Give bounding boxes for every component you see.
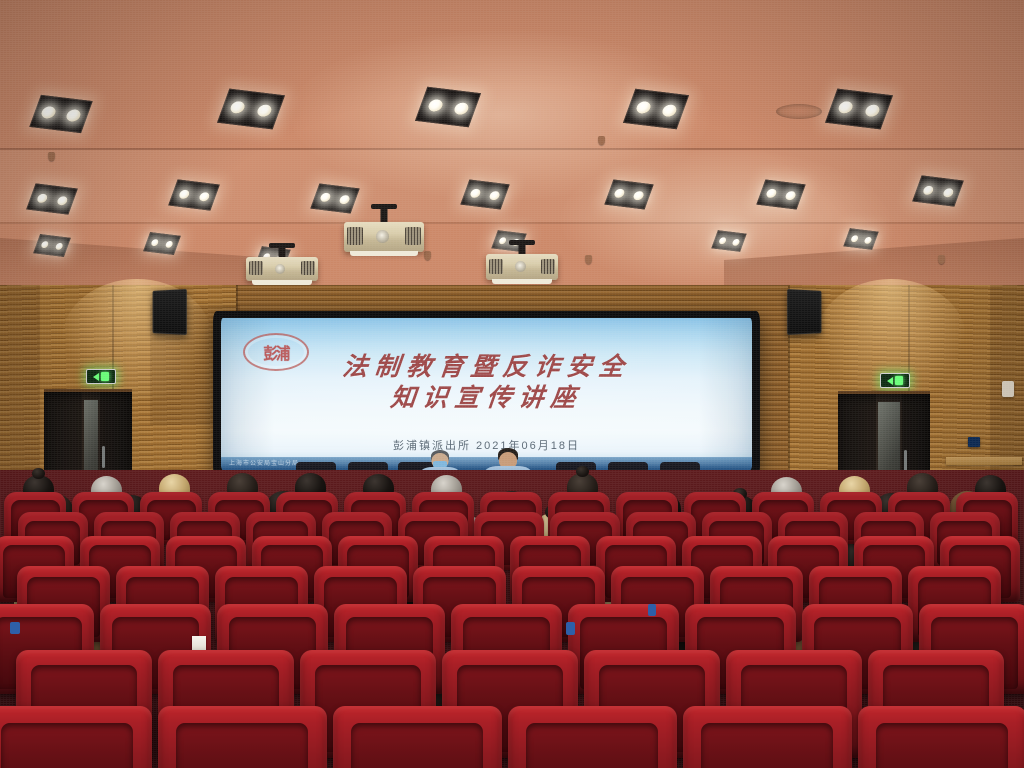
sprinkler-head-2 <box>598 136 605 145</box>
projector-1 <box>246 243 318 281</box>
auditorium-seat[interactable] <box>333 706 502 768</box>
exit-sign-left-icon <box>86 369 116 384</box>
projector-3 <box>486 240 558 280</box>
auditorium-photo: 彭浦 法制教育暨反诈安全 知识宣传讲座 彭浦镇派出所 2021年06月18日 上… <box>0 0 1024 768</box>
attendee-phone <box>648 604 656 616</box>
ceiling-light-3 <box>415 87 481 128</box>
auditorium-seat[interactable] <box>858 706 1024 768</box>
exit-sign-right-icon <box>880 373 910 388</box>
ceiling-light-17 <box>711 230 746 252</box>
auditorium-seat[interactable] <box>0 706 152 768</box>
slide-title: 法制教育暨反诈安全 知识宣传讲座 <box>221 352 752 415</box>
wall-thermostat[interactable] <box>1002 381 1014 397</box>
auditorium-seat[interactable] <box>508 706 677 768</box>
ceiling-light-6 <box>26 183 78 214</box>
ceiling-light-7 <box>168 179 220 210</box>
ceiling-light-9 <box>460 180 509 210</box>
ceiling <box>0 0 1024 300</box>
sprinkler-head-4 <box>585 255 592 264</box>
audience-seating <box>0 470 1024 768</box>
auditorium-seat[interactable] <box>158 706 327 768</box>
ceiling-light-12 <box>912 175 964 206</box>
ceiling-light-1 <box>29 95 92 133</box>
sprinkler-head-1 <box>48 152 55 161</box>
auditorium-seat[interactable] <box>683 706 852 768</box>
slide-title-line-2: 知识宣传讲座 <box>221 383 752 414</box>
ceiling-light-10 <box>604 180 653 210</box>
wall-switch-panel[interactable] <box>968 437 980 447</box>
ceiling-light-11 <box>756 180 805 210</box>
slide-title-line-1: 法制教育暨反诈安全 <box>221 352 752 383</box>
attendee-hair-bun <box>576 466 589 477</box>
attendee-hair-bun <box>32 468 45 479</box>
ceiling-light-4 <box>623 89 689 130</box>
sprinkler-head-5 <box>938 255 945 264</box>
ceiling-vent <box>776 104 822 119</box>
ceiling-light-18 <box>843 228 878 250</box>
projector-2 <box>344 204 424 252</box>
wall-speaker-right <box>787 289 821 335</box>
ceiling-light-2 <box>217 89 285 130</box>
attendee-phone <box>10 622 20 634</box>
sprinkler-head-3 <box>424 251 431 260</box>
wall-speaker-left <box>153 289 187 335</box>
ceiling-light-5 <box>825 89 893 130</box>
attendee-phone <box>566 622 575 635</box>
